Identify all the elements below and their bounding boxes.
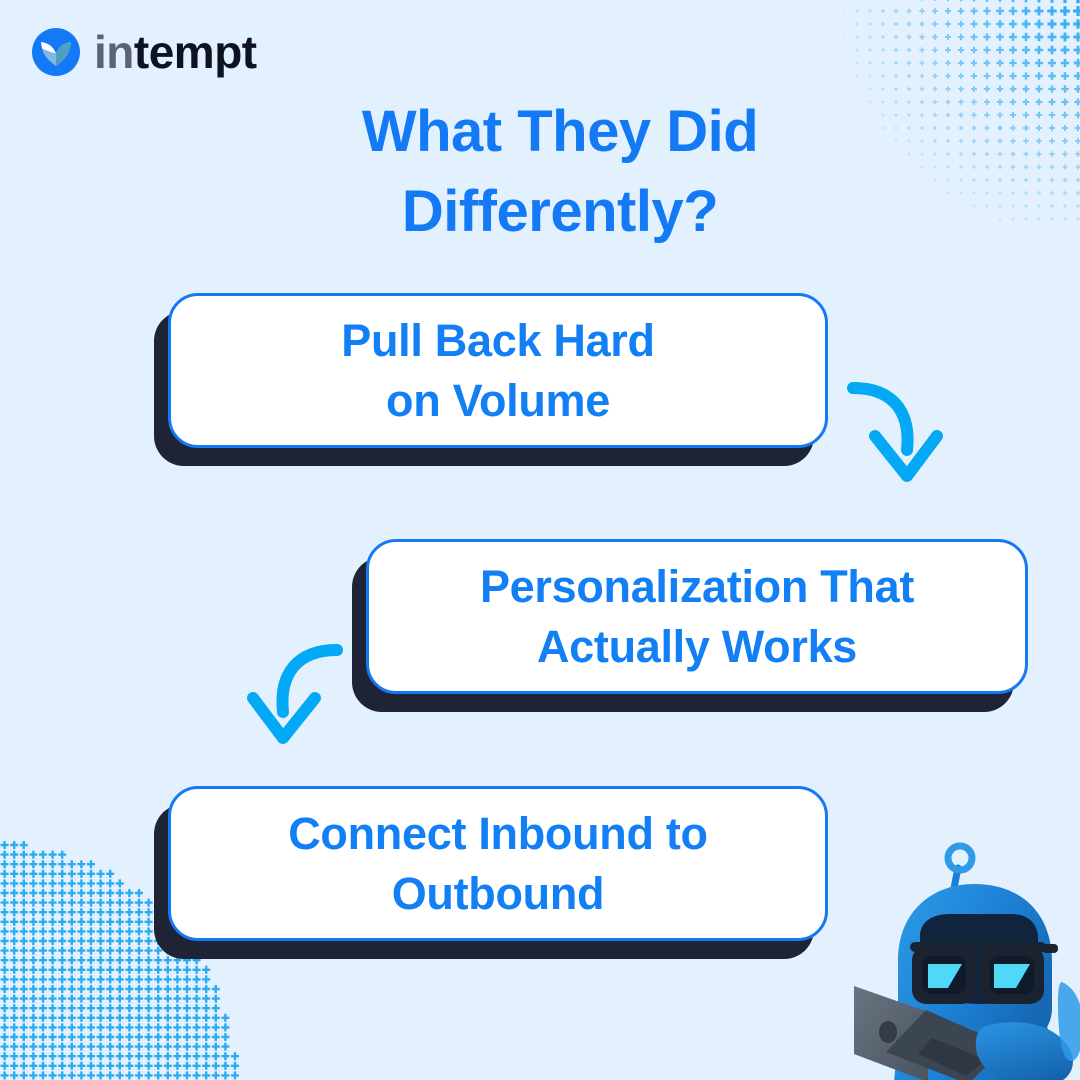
wordmark-part-tempt: tempt [134, 29, 257, 75]
curved-arrow-down-left-icon [245, 640, 345, 750]
step-card-3[interactable]: Connect Inbound to Outbound [168, 786, 828, 941]
wordmark-part-in: in [94, 29, 134, 75]
brand-wordmark: intempt [94, 29, 257, 75]
plus-dot-halftone-icon [844, 0, 1080, 230]
brand-logo[interactable]: intempt [32, 28, 257, 76]
intempt-whale-tail-logo-icon [32, 28, 80, 76]
step-card-2[interactable]: Personalization That Actually Works [366, 539, 1028, 694]
robot-with-laptop-icon [836, 840, 1080, 1080]
card-label: Personalization That Actually Works [458, 557, 936, 677]
card-body[interactable]: Pull Back Hard on Volume [168, 293, 828, 448]
card-label: Pull Back Hard on Volume [319, 311, 676, 431]
page-title: What They Did Differently? [280, 92, 840, 252]
card-body[interactable]: Personalization That Actually Works [366, 539, 1028, 694]
infographic-canvas: intempt What They Did Differently? Pull … [0, 0, 1080, 1080]
curved-arrow-down-right-icon [845, 378, 945, 488]
card-body[interactable]: Connect Inbound to Outbound [168, 786, 828, 941]
step-card-1[interactable]: Pull Back Hard on Volume [168, 293, 828, 448]
card-label: Connect Inbound to Outbound [266, 804, 730, 924]
